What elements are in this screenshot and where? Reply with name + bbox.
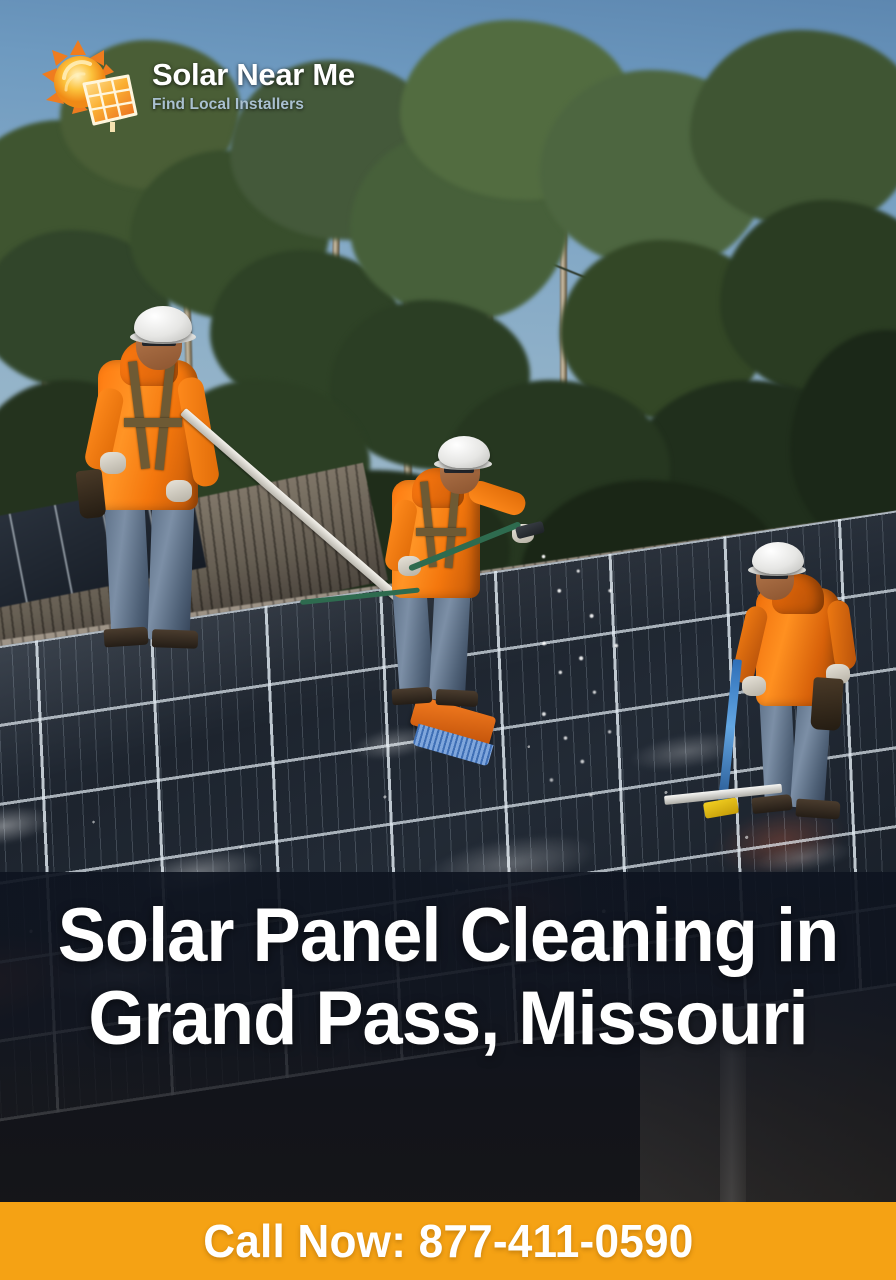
brand-tagline: Find Local Installers [152, 97, 355, 113]
brand-logo[interactable]: Solar Near Me Find Local Installers [42, 40, 355, 132]
solar-panel-sun-icon [42, 40, 138, 132]
call-now-bar[interactable]: Call Now: 877-411-0590 [0, 1202, 896, 1280]
call-now-text[interactable]: Call Now: 877-411-0590 [203, 1214, 693, 1268]
brand-text: Solar Near Me Find Local Installers [152, 59, 355, 113]
brand-name: Solar Near Me [152, 59, 355, 90]
poster-canvas: Solar Near Me Find Local Installers Sola… [0, 0, 896, 1280]
page-title: Solar Panel Cleaning in Grand Pass, Miss… [22, 894, 873, 1060]
